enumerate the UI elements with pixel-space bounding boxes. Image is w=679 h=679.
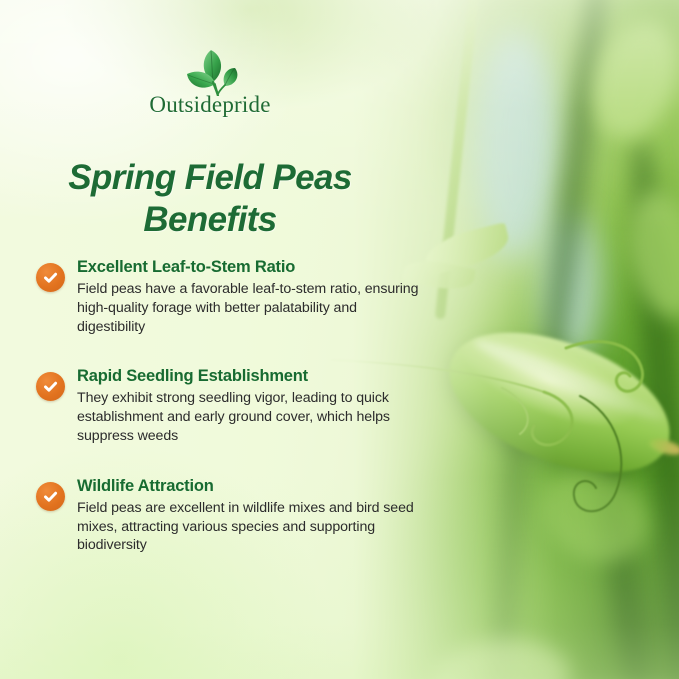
title-line-2: Benefits [8,199,412,240]
brand-wordmark: Outsidepride [0,92,420,118]
benefit-title: Excellent Leaf-to-Stem Ratio [77,258,428,278]
benefit-description: They exhibit strong seedling vigor, lead… [77,389,428,446]
benefit-text: Rapid Seedling Establishment They exhibi… [77,367,428,445]
benefit-item: Wildlife Attraction Field peas are excel… [36,477,428,555]
check-circle-icon [36,482,65,511]
benefit-description: Field peas are excellent in wildlife mix… [77,499,428,556]
title-line-1: Spring Field Peas [68,158,352,197]
infographic-card: Outsidepride Spring Field Peas Benefits … [0,0,679,679]
brand-logo[interactable]: Outsidepride [0,44,420,118]
benefit-title: Rapid Seedling Establishment [77,367,428,387]
three-leaf-sprig-icon [173,44,247,96]
benefit-text: Excellent Leaf-to-Stem Ratio Field peas … [77,258,428,336]
page-title: Spring Field Peas Benefits [8,157,412,240]
benefit-item: Excellent Leaf-to-Stem Ratio Field peas … [36,258,428,336]
benefits-list: Excellent Leaf-to-Stem Ratio Field peas … [36,258,428,555]
check-circle-icon [36,263,65,292]
benefit-text: Wildlife Attraction Field peas are excel… [77,477,428,555]
benefit-item: Rapid Seedling Establishment They exhibi… [36,367,428,445]
check-circle-icon [36,372,65,401]
benefit-description: Field peas have a favorable leaf-to-stem… [77,280,428,337]
benefit-title: Wildlife Attraction [77,477,428,497]
card-content: Outsidepride Spring Field Peas Benefits … [0,0,679,679]
